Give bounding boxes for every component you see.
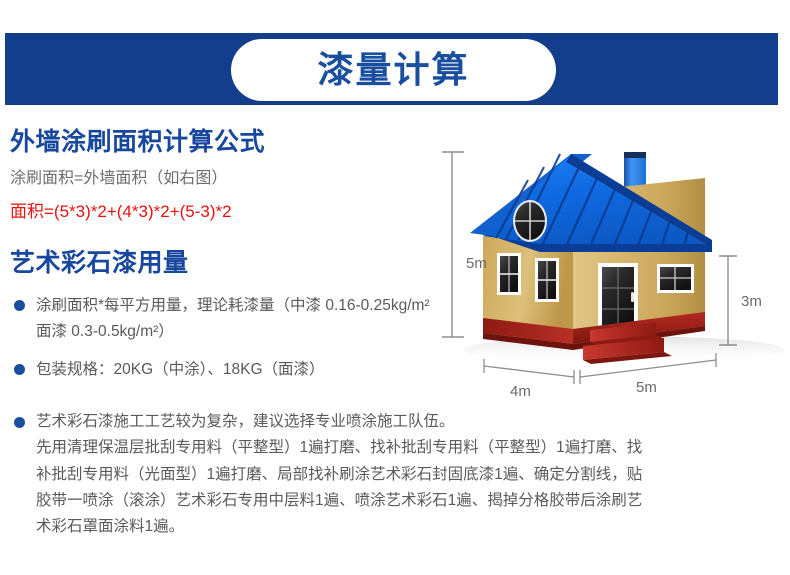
dimension-height-left bbox=[442, 152, 464, 337]
dimension-label-5m-left: 5m bbox=[466, 255, 487, 272]
list-item: 涂刷面积*每平方用量，理论耗漆量（中漆 0.16-0.25kg/m² 面漆 0.… bbox=[10, 293, 440, 343]
process-note-line-2: 先用清理保温层批刮专用料（平整型）1遍打磨、找补批刮专用料（平整型）1遍打磨、找 bbox=[36, 435, 780, 461]
process-note-line-4: 胶带一喷涂（滚涂）艺术彩石专用中层料1遍、喷涂艺术彩石1遍、揭掉分格胶带后涂刷艺 bbox=[36, 488, 780, 514]
content-column: 外墙涂刷面积计算公式 涂刷面积=外墙面积（如右图） 面积=(5*3)*2+(4*… bbox=[10, 128, 440, 395]
formula-sub-line: 涂刷面积=外墙面积（如右图） bbox=[10, 169, 440, 190]
dimension-height-right bbox=[719, 256, 737, 345]
list-item-label: 涂刷面积*每平方用量，理论耗漆量（中漆 0.16-0.25kg/m² 面漆 0.… bbox=[36, 297, 430, 339]
dimension-label-4m: 4m bbox=[510, 383, 531, 400]
attic-window bbox=[513, 200, 547, 242]
formula-section-heading: 外墙涂刷面积计算公式 bbox=[10, 128, 440, 157]
process-note-text: 艺术彩石漆施工工艺较为复杂，建议选择专业喷涂施工队伍。 先用清理保温层批刮专用料… bbox=[10, 409, 780, 541]
usage-section-heading: 艺术彩石漆用量 bbox=[10, 249, 440, 278]
house-diagram: 5m 3m 4m 5m bbox=[440, 140, 790, 410]
process-note-line-5: 术彩石罩面涂料1遍。 bbox=[36, 514, 780, 540]
bullet-dot-icon bbox=[14, 300, 25, 311]
process-note-block: 艺术彩石漆施工工艺较为复杂，建议选择专业喷涂施工队伍。 先用清理保温层批刮专用料… bbox=[10, 409, 780, 541]
bullet-dot-icon bbox=[14, 364, 25, 375]
list-item: 包装规格：20KG（中涂）、18KG（面漆） bbox=[10, 357, 440, 382]
page-title: 漆量计算 bbox=[317, 52, 469, 88]
door-handle-icon bbox=[631, 292, 634, 302]
window-front bbox=[657, 264, 694, 293]
process-note-line-3: 补批刮专用料（光面型）1遍打磨、局部找补刷涂艺术彩石封固底漆1遍、确定分割线，贴 bbox=[36, 462, 780, 488]
page-title-pill: 漆量计算 bbox=[231, 39, 556, 101]
list-item-label: 包装规格：20KG（中涂）、18KG（面漆） bbox=[36, 361, 325, 378]
window-side-1 bbox=[497, 253, 521, 295]
bullet-dot-icon bbox=[14, 417, 25, 428]
area-formula: 面积=(5*3)*2+(4*3)*2+(5-3)*2 bbox=[10, 201, 440, 223]
dimension-label-3m-right: 3m bbox=[741, 293, 762, 310]
dimension-label-5m-bottom: 5m bbox=[636, 379, 657, 396]
process-note-line-1: 艺术彩石漆施工工艺较为复杂，建议选择专业喷涂施工队伍。 bbox=[36, 409, 780, 435]
usage-bullet-list: 涂刷面积*每平方用量，理论耗漆量（中漆 0.16-0.25kg/m² 面漆 0.… bbox=[10, 293, 440, 381]
window-side-2 bbox=[535, 258, 559, 302]
